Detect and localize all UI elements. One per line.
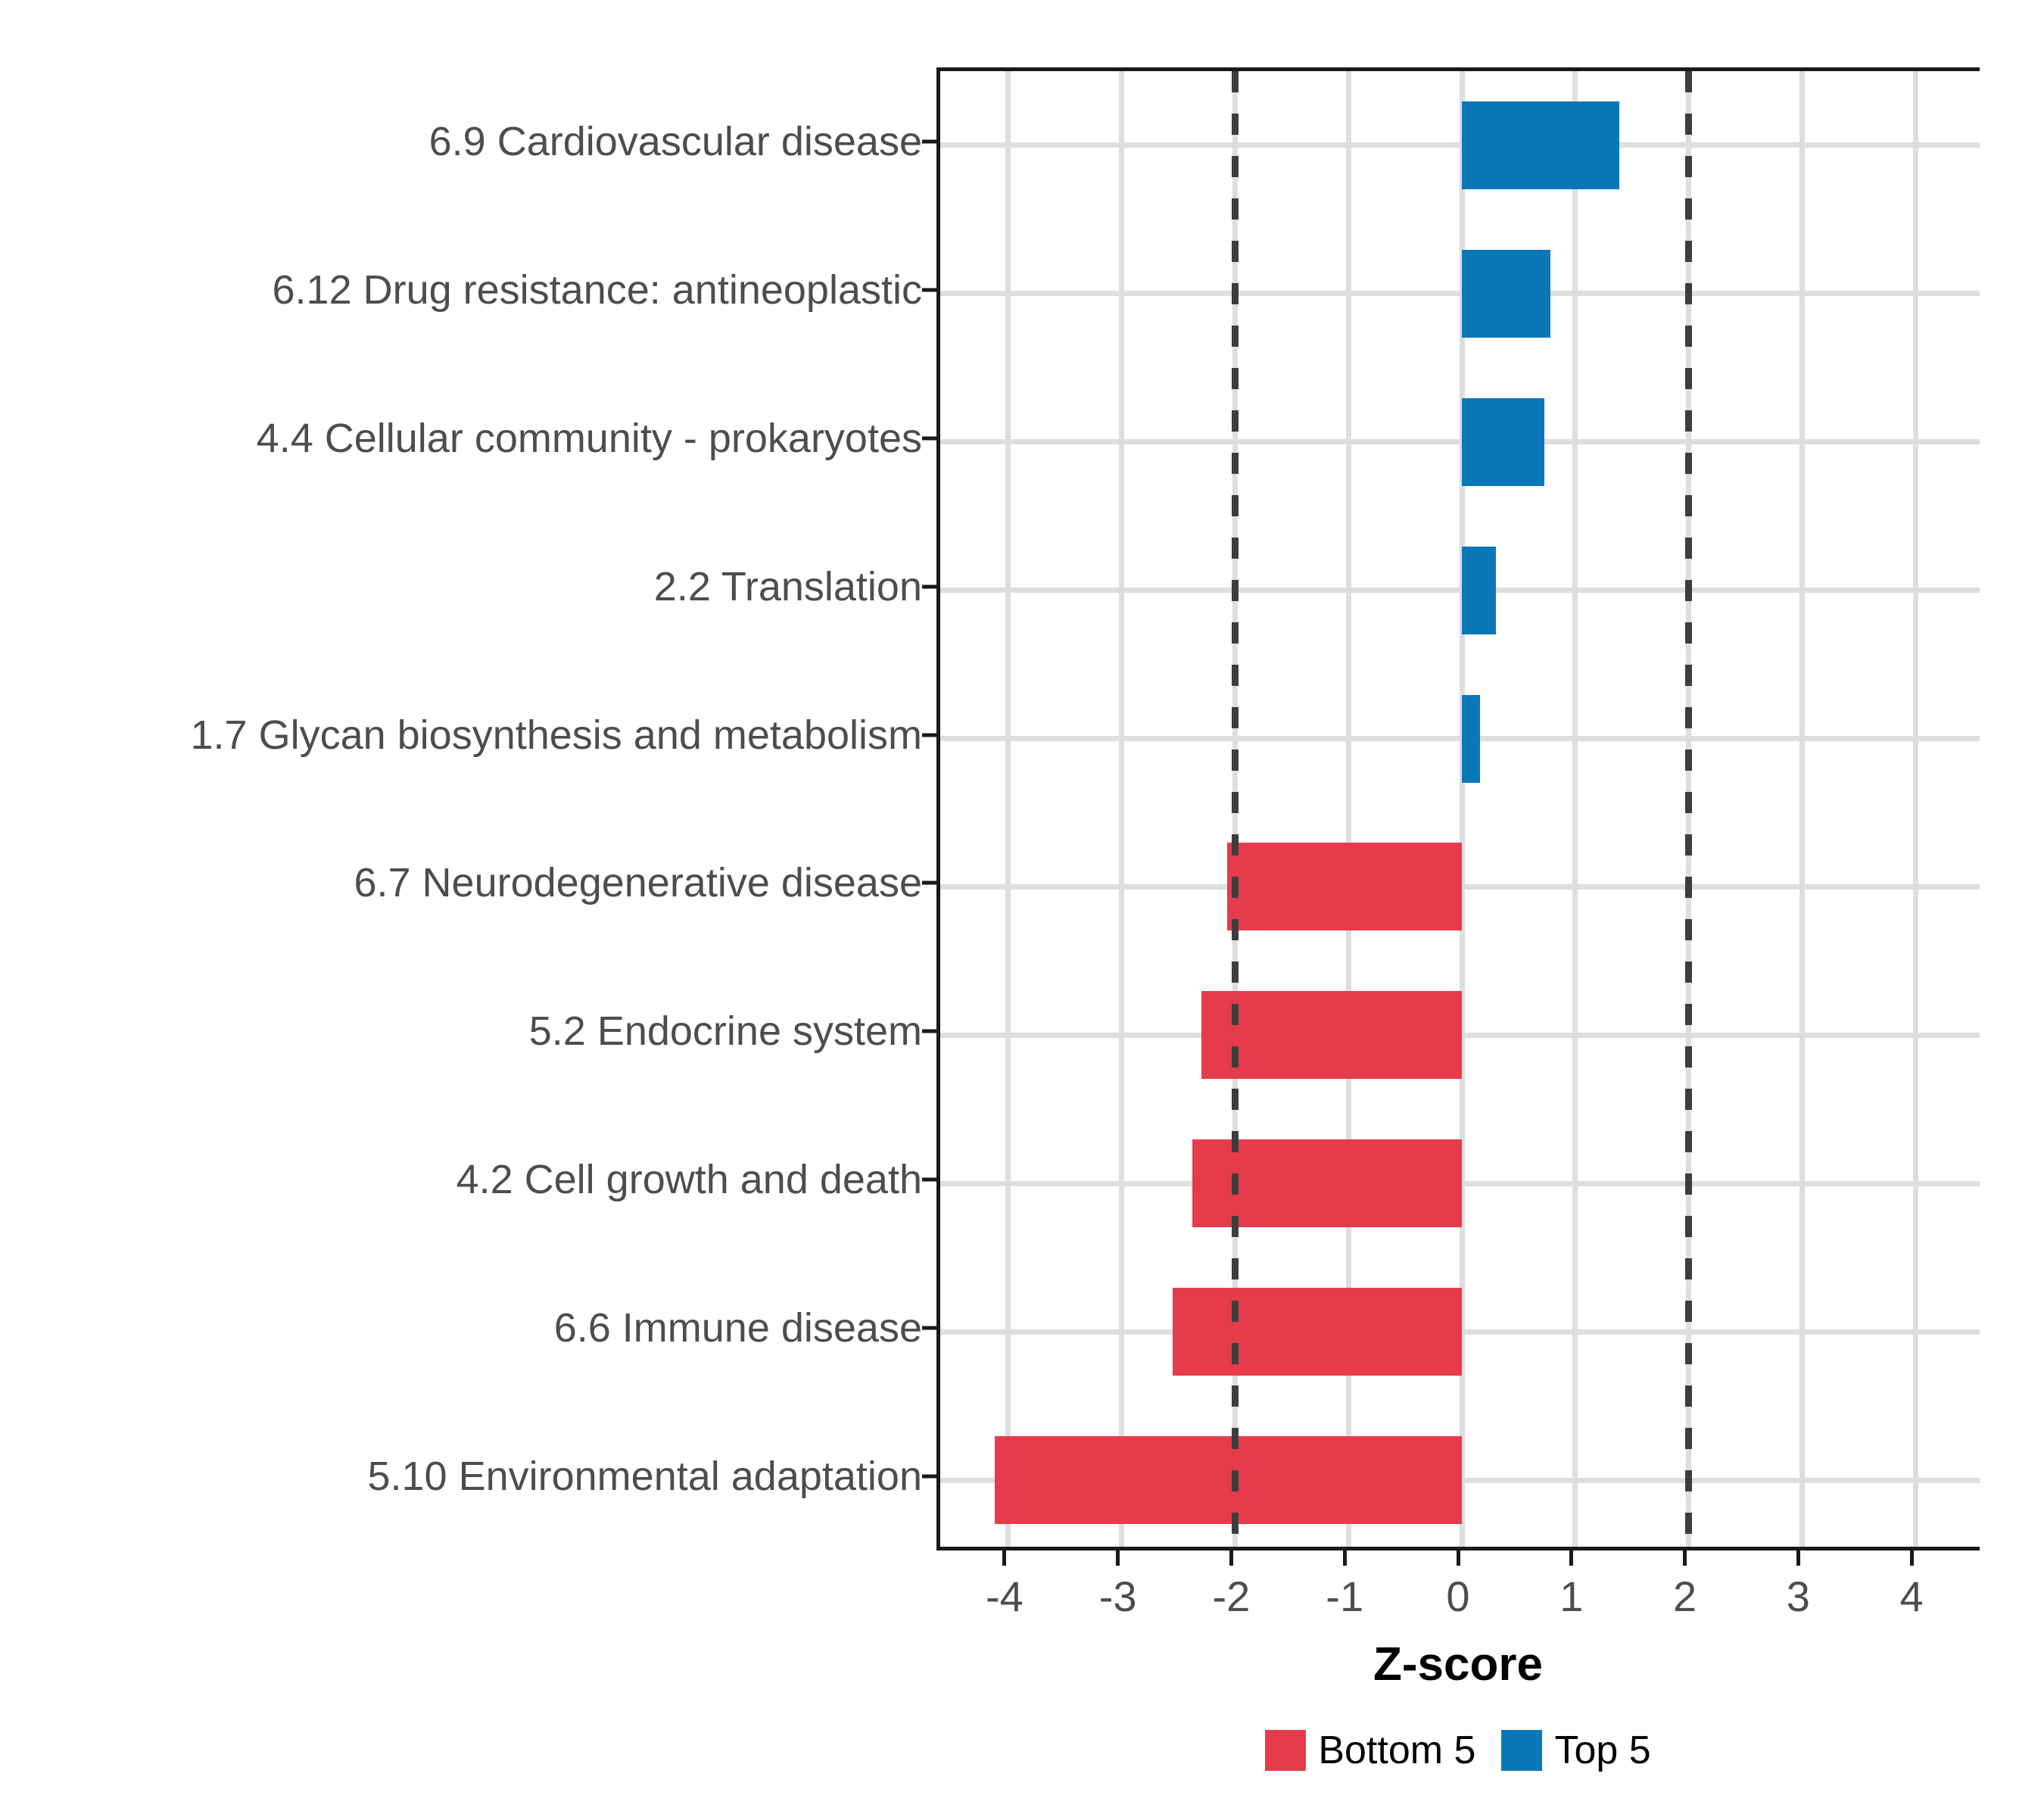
legend-label: Top 5 <box>1554 1728 1650 1773</box>
x-tick-mark <box>1683 1551 1687 1566</box>
bar[interactable] <box>1462 695 1480 783</box>
x-tick-mark <box>1796 1551 1800 1566</box>
x-tick-mark <box>1457 1551 1460 1566</box>
y-tick-mark <box>922 1030 936 1033</box>
bar[interactable] <box>1462 101 1619 189</box>
x-axis-title: Z-score <box>936 1638 1980 1691</box>
x-tick-mark <box>1569 1551 1573 1566</box>
legend-label: Bottom 5 <box>1318 1728 1475 1773</box>
bar[interactable] <box>995 1436 1462 1524</box>
x-tick-label: 1 <box>1559 1572 1583 1621</box>
y-tick-label: 4.2 Cell growth and death <box>0 1156 922 1203</box>
x-tick-mark <box>1910 1551 1914 1566</box>
x-tick-mark <box>1229 1551 1233 1566</box>
legend-swatch-icon <box>1501 1730 1542 1771</box>
y-tick-mark <box>922 288 936 291</box>
bar[interactable] <box>1227 843 1462 930</box>
y-tick-mark <box>922 733 936 737</box>
y-tick-label: 5.10 Environmental adaptation <box>0 1453 922 1500</box>
x-tick-label: -3 <box>1099 1572 1137 1621</box>
x-tick-label: -2 <box>1213 1572 1251 1621</box>
y-tick-mark <box>922 436 936 440</box>
y-tick-label: 4.4 Cellular community - prokaryotes <box>0 415 922 462</box>
plot-panel <box>936 67 1980 1551</box>
y-tick-mark <box>922 584 936 588</box>
x-tick-mark <box>1002 1551 1006 1566</box>
x-tick-label: -4 <box>986 1572 1024 1621</box>
y-tick-mark <box>922 1178 936 1182</box>
chart-page: 6.9 Cardiovascular disease6.12 Drug resi… <box>0 0 2044 1817</box>
y-tick-label: 1.7 Glycan biosynthesis and metabolism <box>0 712 922 759</box>
gridline-y <box>940 587 1980 593</box>
bar[interactable] <box>1462 250 1550 338</box>
gridline-y <box>940 291 1980 296</box>
legend-item[interactable]: Bottom 5 <box>1265 1728 1475 1773</box>
legend-item[interactable]: Top 5 <box>1501 1728 1650 1773</box>
y-tick-label: 6.6 Immune disease <box>0 1304 922 1351</box>
x-tick-mark <box>1343 1551 1347 1566</box>
gridline-y <box>940 439 1980 444</box>
y-tick-label: 5.2 Endocrine system <box>0 1008 922 1055</box>
x-tick-mark <box>1116 1551 1120 1566</box>
gridline-y <box>940 736 1980 741</box>
bar[interactable] <box>1462 547 1496 634</box>
y-tick-mark <box>922 1326 936 1330</box>
y-tick-label: 2.2 Translation <box>0 563 922 610</box>
gridline-y <box>940 142 1980 148</box>
bar[interactable] <box>1201 991 1463 1079</box>
x-tick-label: 2 <box>1673 1572 1697 1621</box>
y-tick-label: 6.12 Drug resistance: antineoplastic <box>0 266 922 313</box>
reference-line <box>1232 71 1239 1547</box>
bar[interactable] <box>1173 1288 1462 1376</box>
y-axis-labels: 6.9 Cardiovascular disease6.12 Drug resi… <box>0 0 922 1817</box>
bar[interactable] <box>1462 398 1544 486</box>
y-tick-mark <box>922 1475 936 1479</box>
y-tick-mark <box>922 139 936 143</box>
y-tick-label: 6.9 Cardiovascular disease <box>0 118 922 165</box>
x-tick-label: 3 <box>1787 1572 1810 1621</box>
reference-line <box>1685 71 1692 1547</box>
legend: Bottom 5Top 5 <box>936 1728 1980 1773</box>
legend-swatch-icon <box>1265 1730 1306 1771</box>
y-tick-label: 6.7 Neurodegenerative disease <box>0 859 922 906</box>
x-tick-label: -1 <box>1326 1572 1363 1621</box>
y-tick-mark <box>922 881 936 885</box>
x-tick-label: 4 <box>1900 1572 1924 1621</box>
x-tick-label: 0 <box>1446 1572 1469 1621</box>
